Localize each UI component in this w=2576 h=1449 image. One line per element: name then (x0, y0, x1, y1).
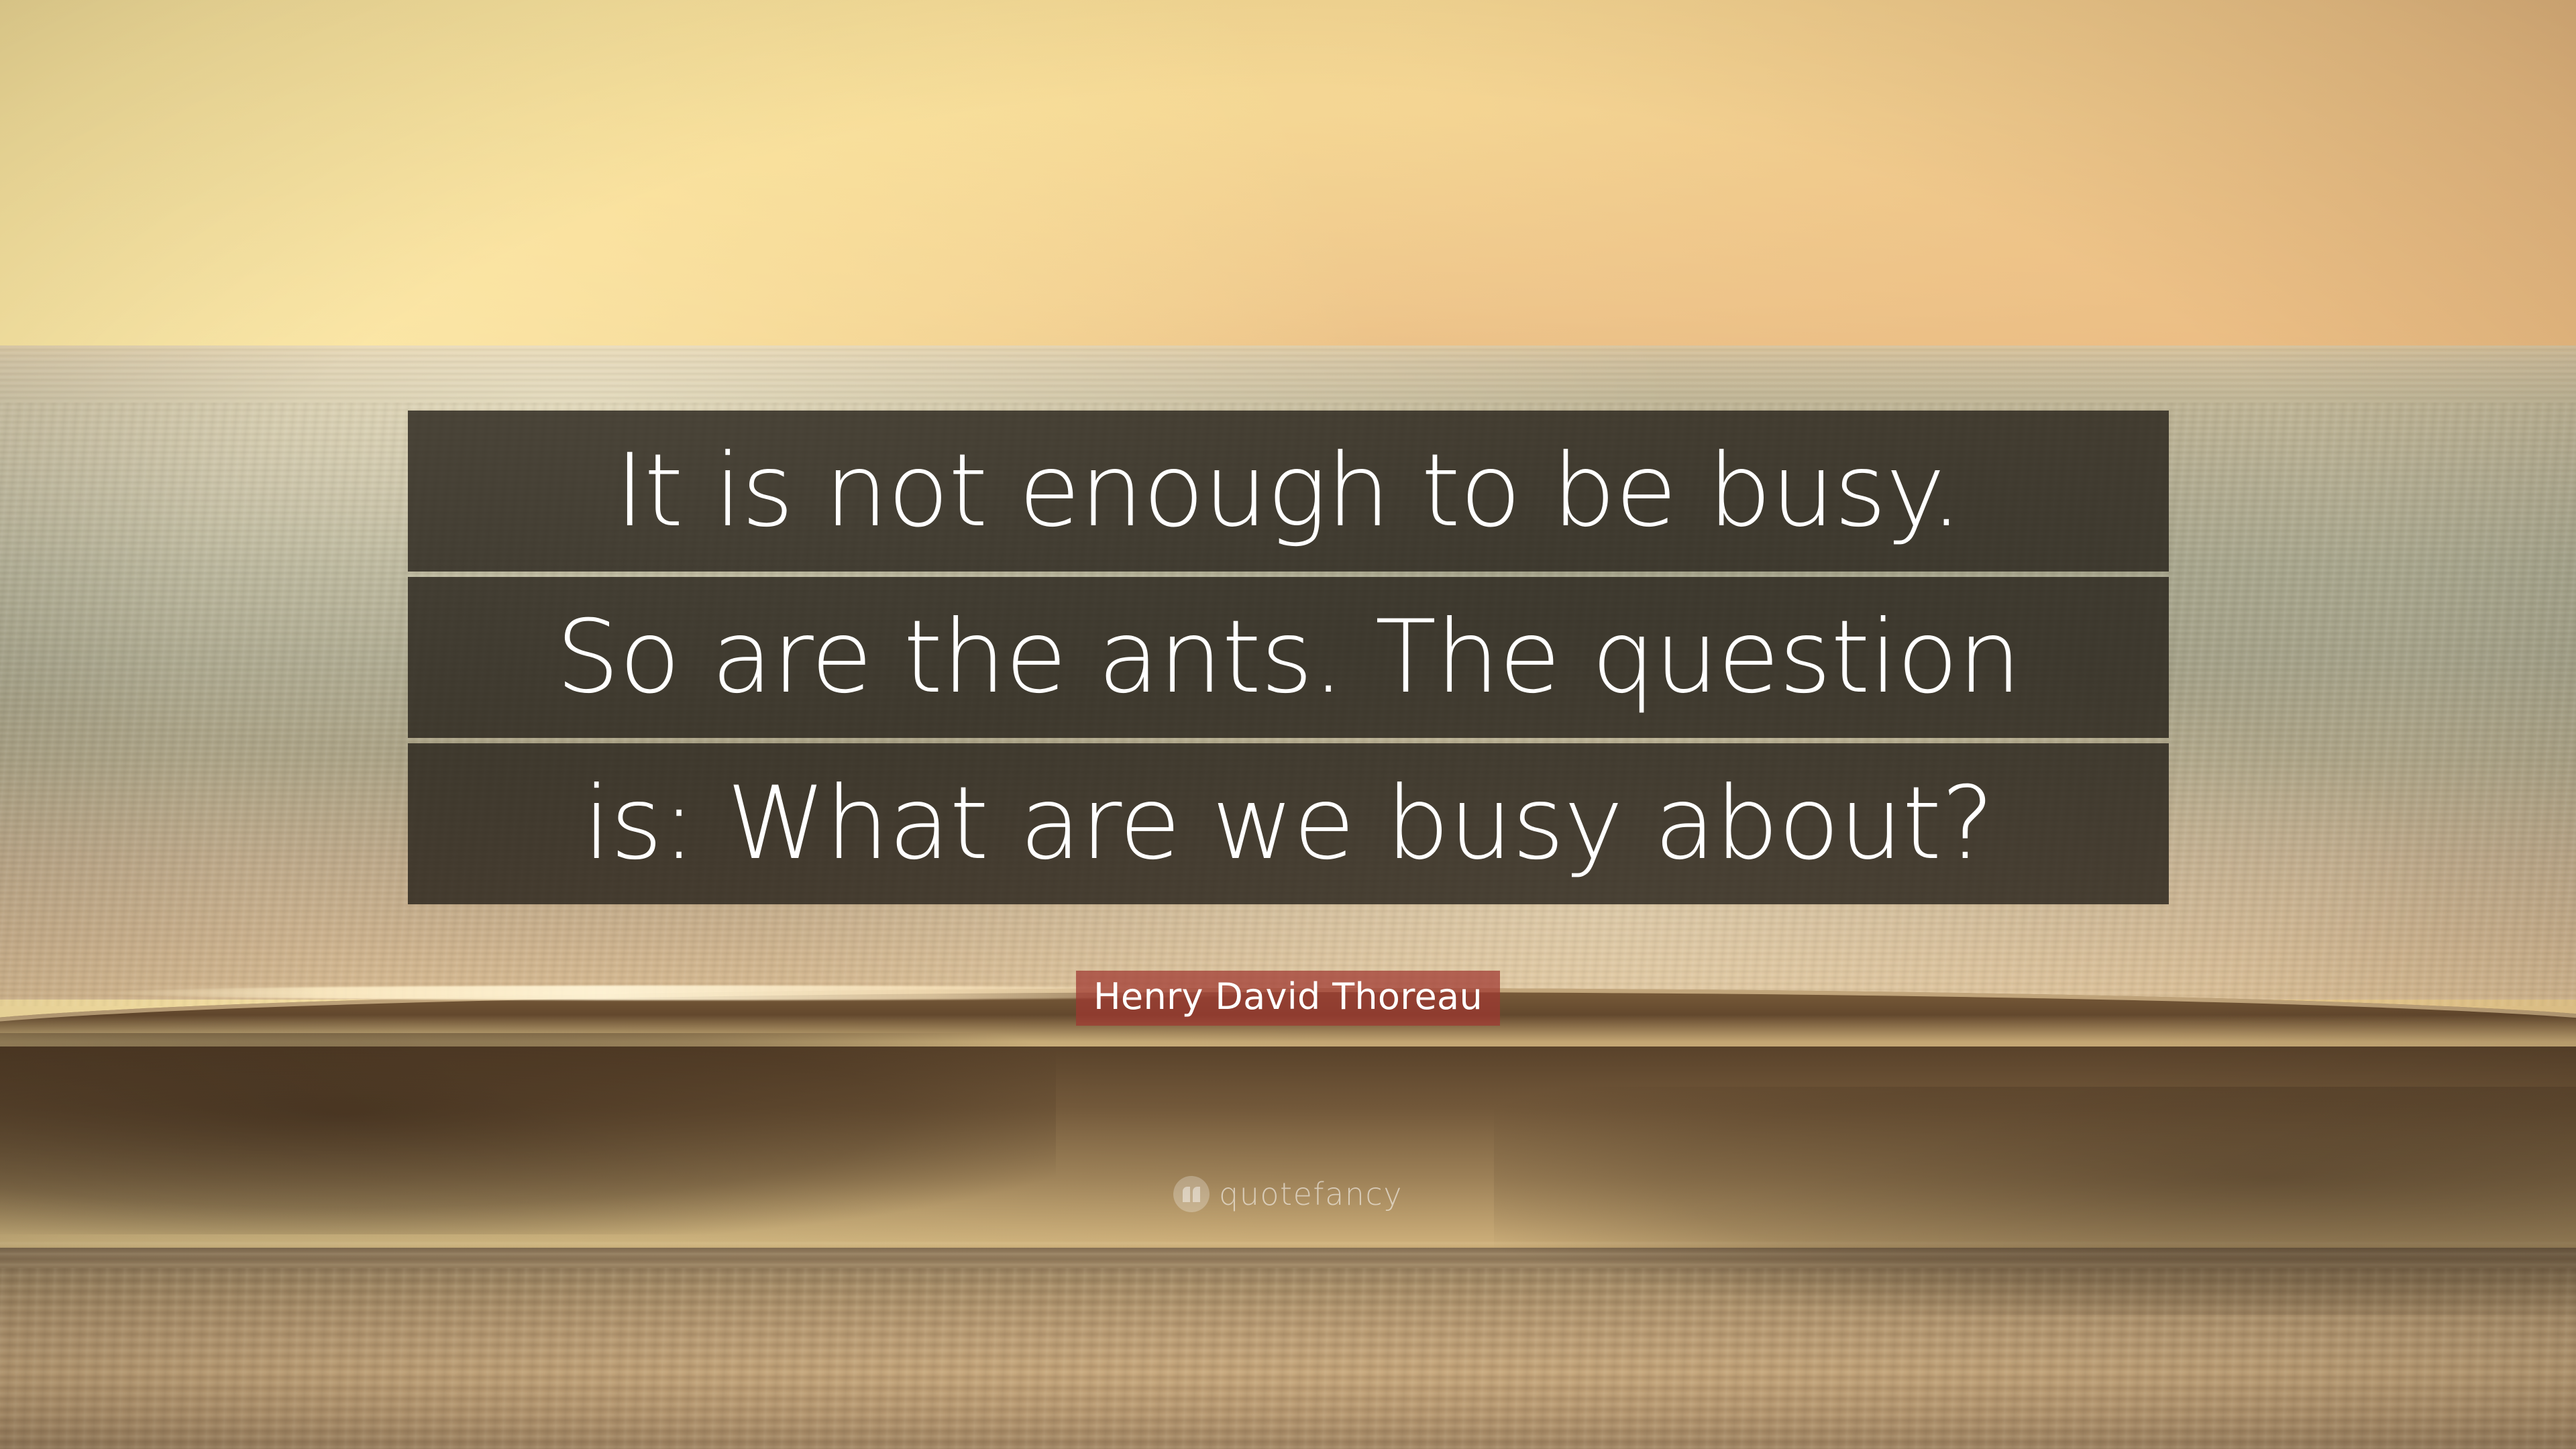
quote-line-2-text: So are the ants. The question (408, 607, 2169, 708)
quote-line-3-text: is: What are we busy about? (408, 773, 2169, 874)
quote-poster: It is not enough to be busy. So are the … (0, 0, 2576, 1449)
quote-text-block: It is not enough to be busy. So are the … (408, 411, 2169, 904)
quotefancy-brand-text: quotefancy (1219, 1179, 1403, 1210)
quote-mark-icon (1173, 1176, 1210, 1212)
quotefancy-watermark: quotefancy (0, 1176, 2576, 1212)
quote-line: It is not enough to be busy. (408, 411, 2169, 572)
quote-line: is: What are we busy about? (408, 743, 2169, 904)
author-attribution: Henry David Thoreau (0, 971, 2576, 1026)
author-name: Henry David Thoreau (1076, 971, 1500, 1026)
quote-line: So are the ants. The question (408, 577, 2169, 738)
quote-line-1-text: It is not enough to be busy. (408, 441, 2169, 541)
sky-gradient (0, 0, 2576, 352)
